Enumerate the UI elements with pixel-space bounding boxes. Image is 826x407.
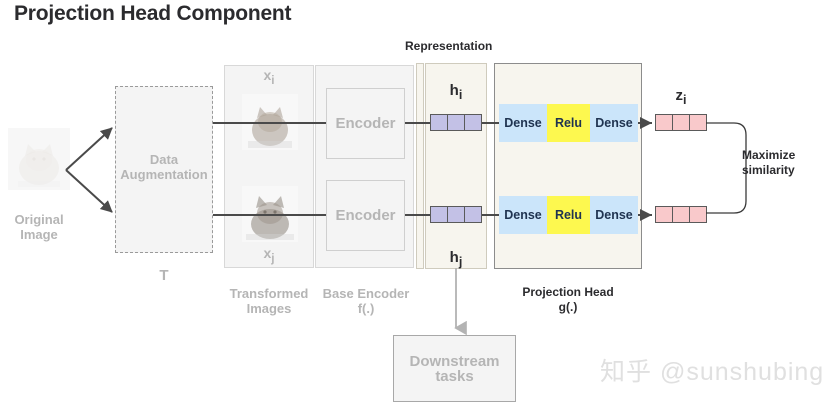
- cat-photo-icon: [242, 186, 298, 242]
- vector-cell: [448, 115, 465, 130]
- transformed-images-caption: Transformed Images: [222, 286, 316, 316]
- page-title: Projection Head Component: [14, 2, 291, 26]
- original-caption-line1: Original: [14, 212, 63, 227]
- transformed-image-i-label: xi: [224, 68, 314, 88]
- representation-title: Representation: [405, 39, 595, 54]
- enc-caption-line2: f(.): [358, 301, 375, 316]
- hj-subscript: j: [459, 255, 462, 269]
- vector-cell: [431, 207, 448, 222]
- transformed-image-j-label: xj: [224, 246, 314, 266]
- diagram-canvas: Projection Head Component Original Image…: [0, 0, 826, 407]
- dense-block: Dense: [590, 196, 638, 234]
- transformed-image-i: [242, 94, 298, 150]
- hi-subscript: i: [459, 88, 462, 102]
- aug-label-line2: Augmentation: [120, 167, 207, 182]
- xform-caption-line1: Transformed: [230, 286, 309, 301]
- down-label-line2: tasks: [435, 368, 473, 385]
- proj-caption-line2: g(.): [559, 300, 578, 314]
- relu-block: Relu: [547, 196, 590, 234]
- h-i-label: hi: [425, 83, 487, 103]
- relu-block: Relu: [547, 104, 590, 142]
- vector-cell: [431, 115, 448, 130]
- vector-cell: [690, 115, 706, 130]
- dense-block: Dense: [590, 104, 638, 142]
- proj-caption-line1: Projection Head: [522, 285, 613, 299]
- hj-base: h: [450, 249, 459, 266]
- h-vector-j: [430, 206, 482, 223]
- projection-head-panel: [494, 63, 642, 269]
- original-caption-line2: Image: [20, 227, 58, 242]
- z-vector-j: [655, 206, 707, 223]
- transformed-image-j: [242, 186, 298, 242]
- cat-photo-icon: [242, 94, 298, 150]
- projection-head-caption: Projection Head g(.): [495, 285, 641, 315]
- xform-caption-line2: Images: [247, 301, 292, 316]
- representation-panel-sliver: [416, 63, 424, 269]
- dense-block: Dense: [499, 196, 547, 234]
- vector-cell: [656, 115, 673, 130]
- h-j-label: hj: [425, 250, 487, 270]
- zi-subscript: i: [683, 93, 686, 107]
- encoder-box-j: Encoder: [326, 180, 405, 251]
- dense-block: Dense: [499, 104, 547, 142]
- vector-cell: [465, 207, 481, 222]
- max-label-line2: similarity: [742, 163, 795, 177]
- mlp-row-i: Dense Relu Dense: [499, 104, 638, 142]
- vector-cell: [465, 115, 481, 130]
- downstream-tasks-label: Downstream tasks: [396, 354, 514, 384]
- vector-cell: [656, 207, 673, 222]
- vector-cell: [690, 207, 706, 222]
- data-augmentation-label: Data Augmentation: [113, 152, 215, 182]
- enc-caption-line1: Base Encoder: [323, 286, 410, 301]
- mlp-row-j: Dense Relu Dense: [499, 196, 638, 234]
- augmentation-symbol: T: [130, 268, 198, 283]
- vector-cell: [673, 115, 690, 130]
- base-encoder-caption: Base Encoder f(.): [318, 286, 414, 316]
- z-i-label: zi: [655, 88, 707, 108]
- aug-label-line1: Data: [150, 152, 178, 167]
- max-label-line1: Maximize: [742, 148, 795, 162]
- z-vector-i: [655, 114, 707, 131]
- encoder-box-i: Encoder: [326, 88, 405, 159]
- watermark: 知乎 @sunshubing: [600, 352, 824, 388]
- vector-cell: [673, 207, 690, 222]
- vector-cell: [448, 207, 465, 222]
- hi-base: h: [450, 82, 459, 99]
- xj-subscript: j: [271, 252, 274, 265]
- downstream-arrow-icon: [440, 268, 472, 338]
- maximize-similarity-label: Maximize similarity: [742, 148, 826, 178]
- zi-base: z: [676, 87, 684, 104]
- xi-subscript: i: [271, 74, 274, 87]
- h-vector-i: [430, 114, 482, 131]
- downstream-tasks-box: Downstream tasks: [393, 335, 516, 402]
